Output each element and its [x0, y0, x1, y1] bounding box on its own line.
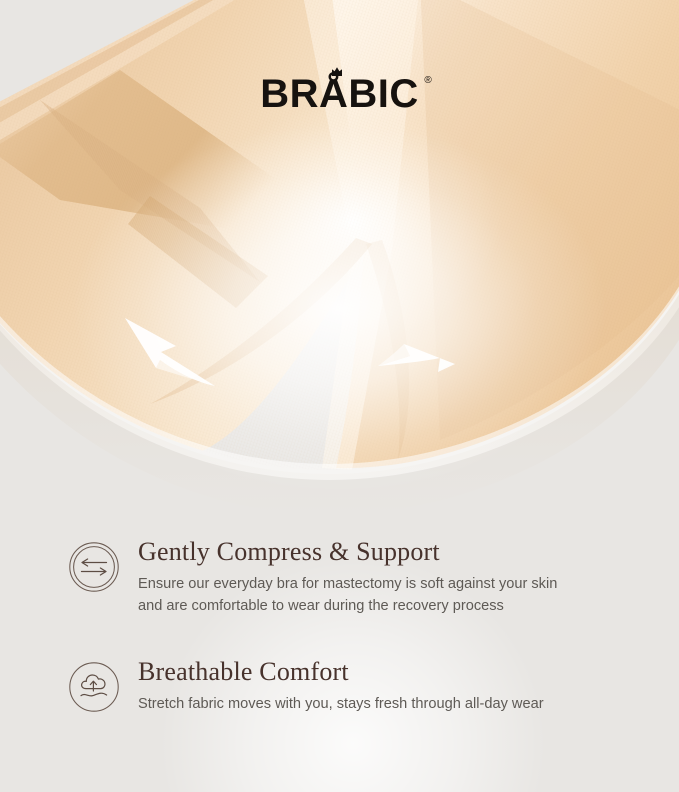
feature-text-compress: Gently Compress & Support Ensure our eve… — [138, 537, 631, 617]
product-feature-image: BRÅBIC ® G — [0, 0, 679, 792]
feature-description: Ensure our everyday bra for mastectomy i… — [138, 573, 608, 617]
feature-item-compress: Gently Compress & Support Ensure our eve… — [68, 537, 631, 617]
feature-description: Stretch fabric moves with you, stays fre… — [138, 693, 608, 715]
feature-description-line: and are comfortable to wear during the r… — [138, 595, 608, 617]
breathable-cloud-icon — [68, 661, 120, 713]
fabric-illustration — [0, 0, 679, 515]
feature-description-line: Ensure our everyday bra for mastectomy i… — [138, 573, 608, 595]
feature-list: Gently Compress & Support Ensure our eve… — [0, 515, 679, 792]
fabric-body — [0, 0, 679, 515]
compress-arrows-icon — [68, 541, 120, 593]
feature-title: Breathable Comfort — [138, 657, 631, 686]
feature-text-breathable: Breathable Comfort Stretch fabric moves … — [138, 657, 631, 715]
feature-item-breathable: Breathable Comfort Stretch fabric moves … — [68, 657, 631, 715]
feature-title: Gently Compress & Support — [138, 537, 631, 566]
hero-product-photo — [0, 0, 679, 515]
feature-description-line: Stretch fabric moves with you, stays fre… — [138, 693, 608, 715]
